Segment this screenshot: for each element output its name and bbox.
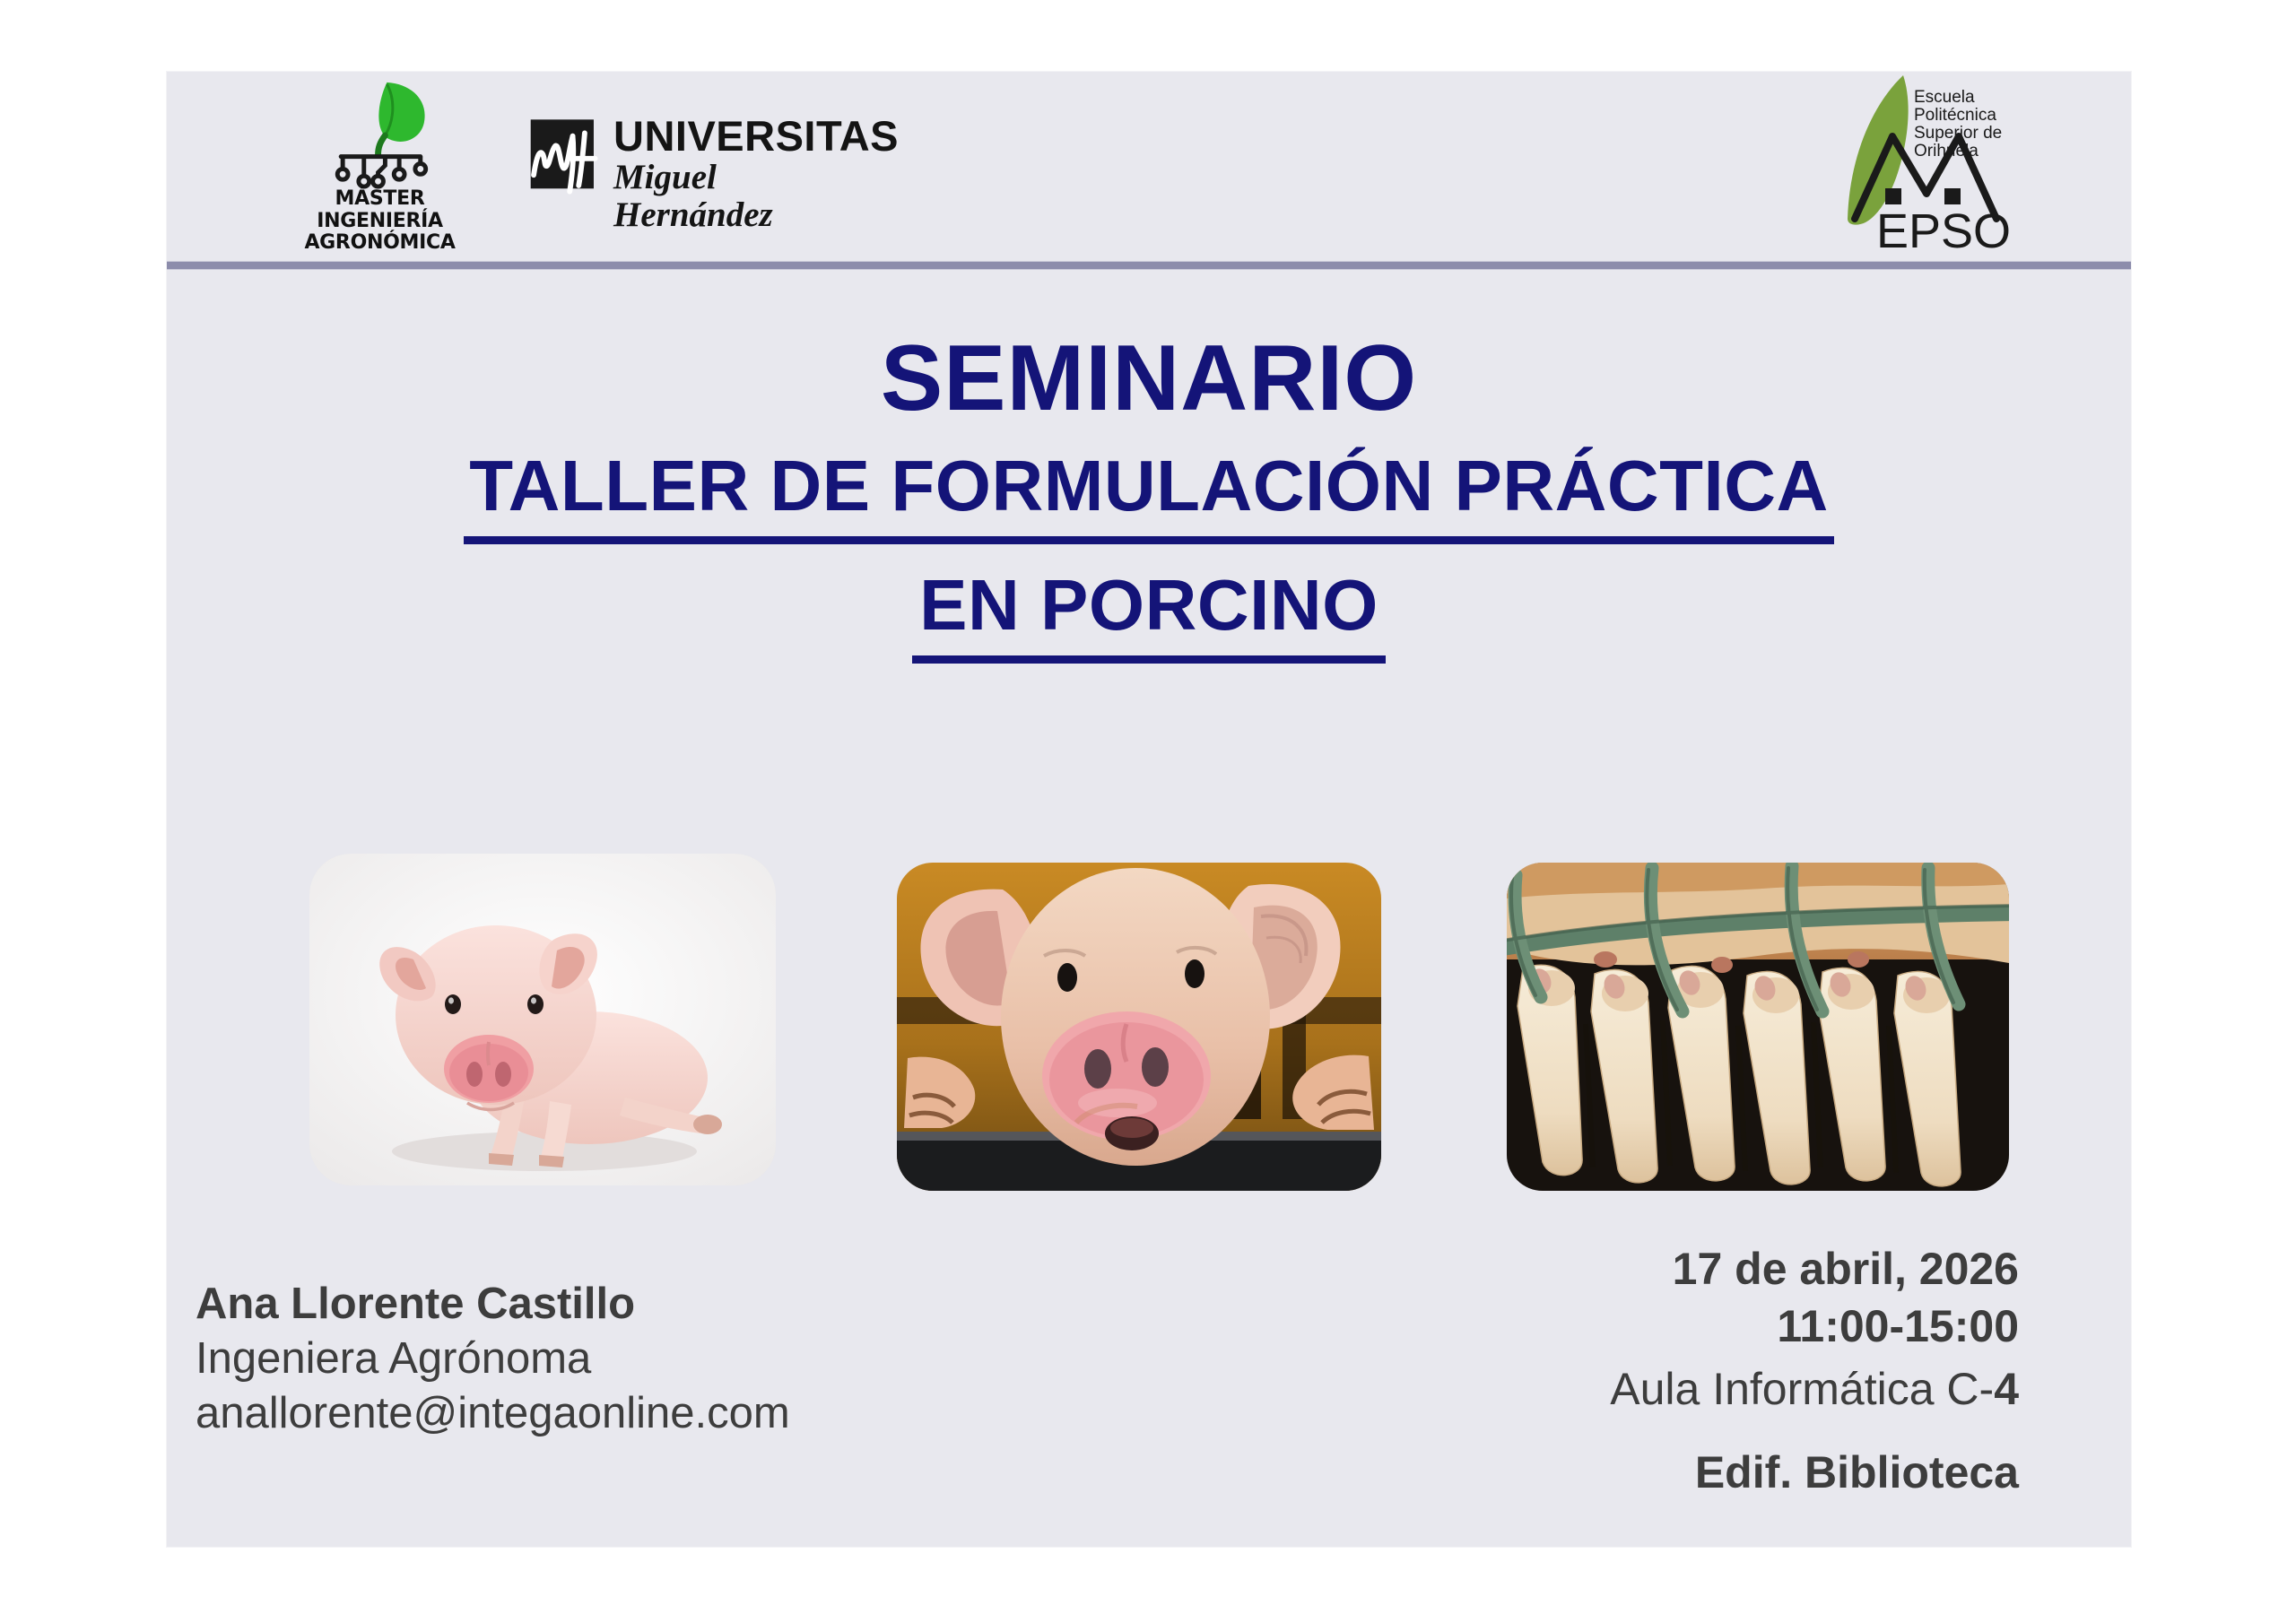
logo-epso: Escuela Politécnica Superior de Orihuela… bbox=[1835, 66, 2014, 255]
event-room-prefix: Aula Informática C- bbox=[1610, 1364, 1994, 1414]
logo-umh-line2: Miguel Hernández bbox=[613, 159, 883, 234]
logo-master-line2: AGRONÓMICA bbox=[288, 232, 472, 255]
event-room: Aula Informática C-4 bbox=[1212, 1355, 2019, 1423]
seedling-circuit-roots-icon bbox=[288, 77, 472, 192]
event-room-number: 4 bbox=[1994, 1364, 2019, 1414]
logo-master-line1: MÁSTER INGENIERÍA bbox=[288, 188, 472, 232]
epso-text-line2: Politécnica bbox=[1914, 106, 1996, 125]
epso-leaf-house-icon: Escuela Politécnica Superior de Orihuela… bbox=[1835, 66, 2014, 255]
mh-monogram-icon bbox=[526, 117, 602, 199]
epso-text-line1: Escuela bbox=[1914, 88, 1975, 107]
epso-text-line3: Superior de bbox=[1914, 124, 2002, 143]
piglets-litter-photo bbox=[1507, 863, 2009, 1191]
event-time: 11:00-15:00 bbox=[1212, 1298, 2019, 1355]
poster-sheet: MÁSTER INGENIERÍA AGRONÓMICA UNIVERSITAS… bbox=[167, 72, 2131, 1547]
poster-footer: Ana Llorente Castillo Ingeniera Agrónoma… bbox=[167, 1206, 2131, 1547]
epso-text-line4: Orihuela bbox=[1914, 142, 1979, 161]
pig-face-photo bbox=[897, 863, 1381, 1191]
subtitle-wrap: TALLER DE FORMULACIÓN PRÁCTICA EN PORCIN… bbox=[167, 450, 2131, 664]
title-block: SEMINARIO TALLER DE FORMULACIÓN PRÁCTICA… bbox=[167, 332, 2131, 664]
page-title: SEMINARIO bbox=[167, 332, 2131, 425]
piglet-standing-photo bbox=[309, 854, 776, 1185]
speaker-email[interactable]: anallorente@integaonline.com bbox=[196, 1386, 1074, 1441]
event-building: Edif. Biblioteca bbox=[1212, 1450, 2019, 1495]
logo-master-ingenieria-agronomica: MÁSTER INGENIERÍA AGRONÓMICA bbox=[288, 77, 472, 247]
logo-umh-line1: UNIVERSITAS bbox=[613, 115, 883, 157]
logo-universitas-miguel-hernandez: UNIVERSITAS Miguel Hernández bbox=[526, 109, 884, 217]
event-date: 17 de abril, 2026 bbox=[1212, 1240, 2019, 1298]
speaker-block: Ana Llorente Castillo Ingeniera Agrónoma… bbox=[196, 1278, 1074, 1440]
epso-acronym: EPSO bbox=[1876, 204, 2011, 255]
poster-header: MÁSTER INGENIERÍA AGRONÓMICA UNIVERSITAS… bbox=[167, 72, 2131, 263]
speaker-name: Ana Llorente Castillo bbox=[196, 1278, 1074, 1332]
subtitle-line-2: EN PORCINO bbox=[912, 569, 1386, 664]
event-details-block: 17 de abril, 2026 11:00-15:00 Aula Infor… bbox=[1212, 1240, 2019, 1495]
photo-strip bbox=[167, 854, 2131, 1194]
speaker-role: Ingeniera Agrónoma bbox=[196, 1332, 1074, 1386]
header-divider bbox=[167, 261, 2131, 270]
subtitle-line-1: TALLER DE FORMULACIÓN PRÁCTICA bbox=[464, 450, 1834, 544]
